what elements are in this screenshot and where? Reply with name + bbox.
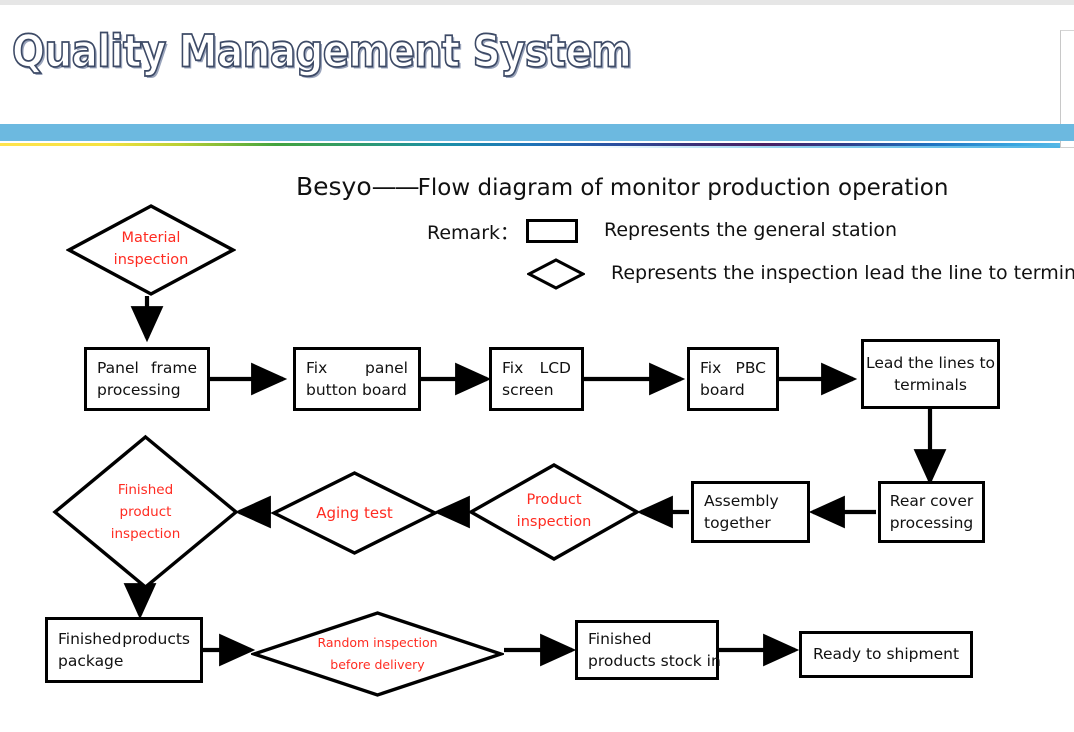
node-lead-lines-line2: terminals — [894, 374, 967, 396]
node-ready-shipment-line1: Ready to shipment — [813, 643, 959, 665]
node-finished-products-stock-in[interactable]: Finished products stock in — [575, 620, 719, 680]
node-aging-test[interactable]: Aging test — [271, 470, 438, 556]
node-stock-in-line1: Finished — [588, 628, 716, 650]
node-rear-cover-processing[interactable]: Rear cover processing — [878, 481, 985, 543]
rectangle-icon — [526, 219, 578, 243]
node-rear-cover-line2: processing — [890, 512, 974, 534]
node-fix-pbc-board[interactable]: Fix PBC board — [687, 347, 779, 411]
node-material-inspection[interactable]: Material inspection — [66, 203, 236, 297]
node-lead-lines-to-terminals[interactable]: Lead the lines to terminals — [861, 339, 1000, 409]
diagram-heading-rest: Flow diagram of monitor production opera… — [418, 175, 949, 201]
node-product-inspection[interactable]: Product inspection — [468, 462, 640, 562]
node-fix-pbc-line1: Fix PBC — [700, 357, 766, 379]
node-fix-panel-line2: button board — [306, 379, 408, 401]
node-fix-lcd-line2: screen — [502, 379, 571, 401]
diamond-icon — [527, 258, 585, 290]
node-assembly-line2: together — [704, 512, 807, 534]
diagram-heading-dash: —— — [372, 172, 418, 201]
node-fix-lcd-line1: Fix LCD — [502, 357, 571, 379]
legend-diamond-text: Represents the inspection lead the line … — [611, 262, 1074, 284]
diagram-heading: Besyo——Flow diagram of monitor productio… — [296, 172, 948, 201]
node-panel-frame-line2: processing — [97, 379, 197, 401]
node-finished-package-line1: Finished products — [58, 628, 190, 650]
diagram-heading-brand: Besyo — [296, 172, 372, 201]
node-fix-panel-button-board[interactable]: Fix panel button board — [293, 347, 421, 411]
node-lead-lines-line1: Lead the lines to — [866, 352, 995, 374]
node-assembly-together[interactable]: Assembly together — [691, 481, 810, 543]
node-rear-cover-line1: Rear cover — [890, 490, 974, 512]
node-ready-to-shipment[interactable]: Ready to shipment — [799, 631, 973, 678]
remark-label: Remark： — [427, 218, 519, 245]
node-finished-package-line2: package — [58, 650, 190, 672]
node-assembly-line1: Assembly — [704, 490, 807, 512]
node-fix-lcd-screen[interactable]: Fix LCD screen — [489, 347, 584, 411]
node-panel-frame-processing[interactable]: Panel frame processing — [84, 347, 210, 411]
node-fix-panel-line1: Fix panel — [306, 357, 408, 379]
flow-diagram: Besyo——Flow diagram of monitor productio… — [0, 0, 1074, 732]
node-random-inspection[interactable]: Random inspection before delivery — [251, 610, 504, 698]
node-finished-product-inspection[interactable]: Finished product inspection — [52, 434, 239, 590]
node-fix-pbc-line2: board — [700, 379, 766, 401]
node-panel-frame-line1: Panel frame — [97, 357, 197, 379]
node-finished-products-package[interactable]: Finished products package — [45, 617, 203, 683]
legend-rect-text: Represents the general station — [604, 219, 897, 241]
slide-root: Quality Management System Besyo——Flow di… — [0, 0, 1074, 732]
node-stock-in-line2: products stock in — [588, 650, 716, 672]
